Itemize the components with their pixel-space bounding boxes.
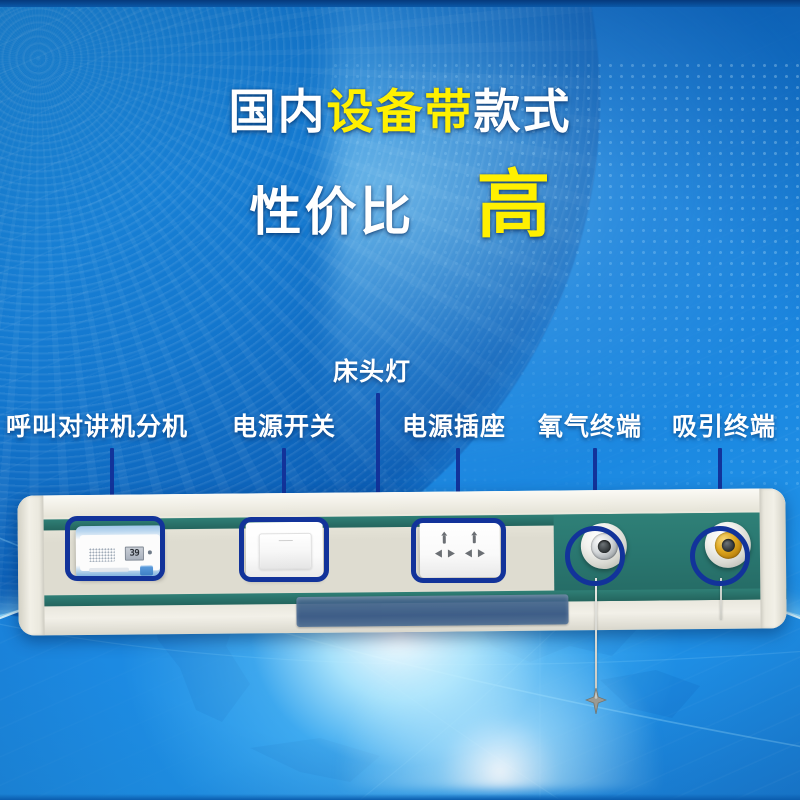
callout-box-intercom — [65, 516, 165, 581]
bed-lamp-diffuser[interactable] — [296, 594, 568, 627]
headline-block: 国内设备带款式 性价比高 — [0, 0, 800, 260]
callout-label-bed-lamp: 床头灯 — [333, 360, 411, 385]
callout-label-suction: 吸引终端 — [672, 415, 776, 440]
suction-pull-cord[interactable] — [595, 578, 597, 696]
headline-seg-3: 款式 — [474, 85, 572, 138]
panel-end-cap-left — [17, 495, 44, 635]
panel-end-cap-right — [759, 488, 786, 628]
callout-circle-suction — [690, 526, 750, 586]
callout-box-power-socket — [411, 518, 506, 583]
pull-cord-toggle-icon[interactable] — [585, 688, 607, 714]
headline-line-2: 性价比高 — [0, 168, 800, 242]
callout-box-power-switch — [239, 517, 329, 582]
headline-seg-2: 设备带 — [327, 85, 474, 138]
headline-seg-5: 高 — [477, 163, 551, 246]
headline-line-1: 国内设备带款式 — [0, 88, 800, 135]
callout-label-oxygen: 氧气终端 — [538, 415, 642, 440]
callout-label-power-socket: 电源插座 — [402, 415, 506, 440]
headline-seg-1: 国内 — [229, 85, 327, 138]
banner-stage: 国内设备带款式 性价比高 呼叫对讲机分机 电源开关 床头灯 电源插座 氧气终端 … — [0, 0, 800, 800]
bottom-edge-band — [0, 794, 800, 800]
callout-label-intercom: 呼叫对讲机分机 — [6, 415, 188, 440]
headline-seg-4: 性价比 — [249, 184, 414, 242]
callout-label-power-switch: 电源开关 — [232, 415, 336, 440]
callout-circle-oxygen — [565, 526, 625, 586]
